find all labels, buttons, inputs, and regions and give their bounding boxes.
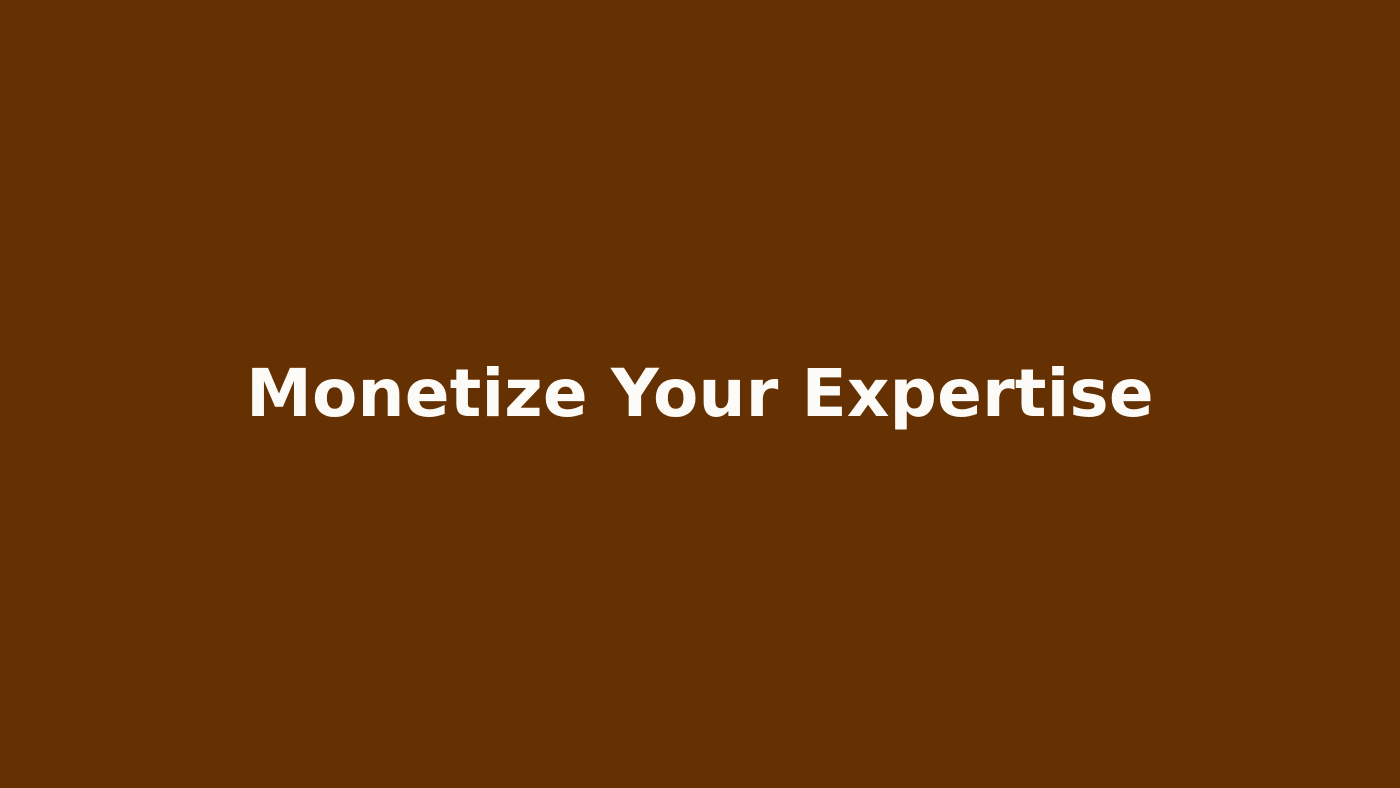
- page-title: Monetize Your Expertise: [60, 356, 1340, 432]
- title-slide: Monetize Your Expertise: [0, 0, 1400, 788]
- title-block: Monetize Your Expertise: [0, 356, 1400, 432]
